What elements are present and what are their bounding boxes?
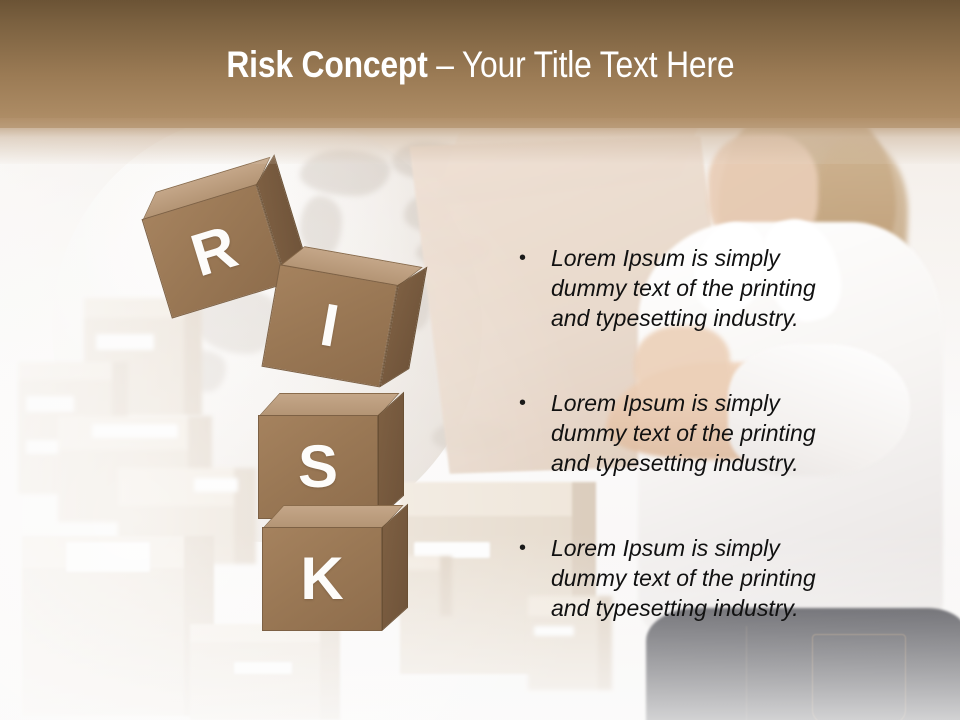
cube-letter: K [300,549,343,609]
risk-cube-k: K [262,505,382,625]
risk-cube-s: S [258,393,378,513]
risk-cube-i: I [262,242,401,381]
presentation-slide: R I S K • Lorem Ip [0,0,960,720]
cube-front-face: S [258,415,378,519]
bullet-list: • Lorem Ipsum is simply dummy text of th… [515,243,845,623]
bullet-text: Lorem Ipsum is simply dummy text of the … [551,243,845,333]
cube-front-face: K [262,527,382,631]
bullet-marker-icon: • [515,243,551,273]
list-item[interactable]: • Lorem Ipsum is simply dummy text of th… [515,388,845,478]
bullet-marker-icon: • [515,533,551,563]
risk-cube-r: R [135,163,285,313]
page-title[interactable]: Risk Concept – Your Title Text Here [226,46,734,83]
bullet-marker-icon: • [515,388,551,418]
bullet-text: Lorem Ipsum is simply dummy text of the … [551,388,845,478]
cube-side-face [382,504,408,631]
cube-letter: I [316,295,343,357]
bullet-text: Lorem Ipsum is simply dummy text of the … [551,533,845,623]
cube-front-face: I [261,264,397,387]
list-item[interactable]: • Lorem Ipsum is simply dummy text of th… [515,533,845,623]
page-title-strong: Risk Concept [226,44,427,85]
list-item[interactable]: • Lorem Ipsum is simply dummy text of th… [515,243,845,333]
slide-header-band: Risk Concept – Your Title Text Here [0,0,960,128]
page-title-rest: – Your Title Text Here [427,44,734,85]
cube-letter: R [185,216,244,286]
cube-letter: S [298,437,338,497]
cube-side-face [378,392,404,519]
